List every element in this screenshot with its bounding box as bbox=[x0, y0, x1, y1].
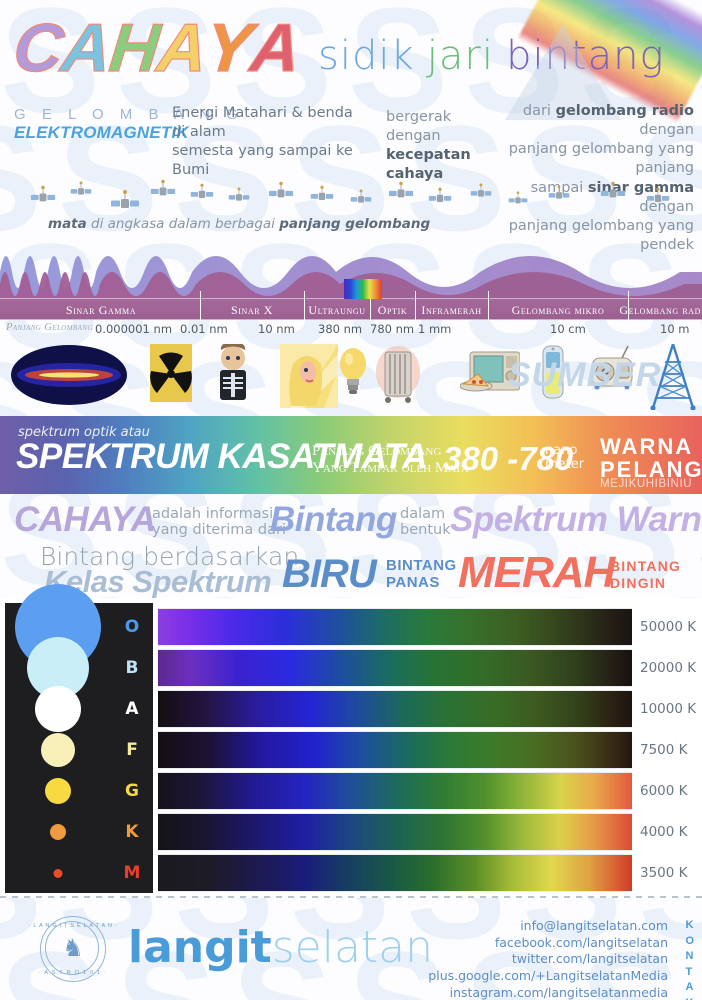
spectrum-strip-F bbox=[158, 731, 632, 769]
visible-spectrum-band: spektrum optik atau SPEKTRUM KASATMATA P… bbox=[0, 416, 702, 494]
header: CAHAYA sidik jari bintang bbox=[0, 0, 702, 100]
satellite-caption-pj: panjang gelombang bbox=[279, 216, 430, 232]
footer-link-0[interactable]: info@langitselatan.com bbox=[428, 918, 668, 935]
temperature-label-A: 10000 K bbox=[640, 701, 696, 717]
statement-block: CAHAYA adalah informasi yang diterima da… bbox=[0, 494, 702, 598]
temperature-label-K: 4000 K bbox=[640, 824, 688, 840]
wavelength-value-1: 0.01 nm bbox=[180, 322, 228, 336]
satellite-caption-mata: mata bbox=[48, 216, 87, 232]
em-band-gelombang-radio: Gelombang radio bbox=[628, 299, 702, 321]
satellite-icon bbox=[508, 190, 528, 215]
spectral-class-letter-K: K bbox=[125, 822, 138, 842]
footer: · L A N G I T S E L A T A N · ♞ · A S T … bbox=[0, 898, 702, 993]
intro-energi-line1: Energi Matahari & benda di alam bbox=[172, 104, 368, 142]
satellite-icon bbox=[310, 184, 334, 213]
spectrum-strip-O bbox=[158, 608, 632, 646]
em-spectrum-bar: Sinar GammaSinar XUltraunguOptikInframer… bbox=[0, 298, 702, 320]
wavelength-value-5: 1 mm bbox=[418, 322, 451, 336]
em-band-inframerah: Inframerah bbox=[415, 299, 488, 321]
em-band-sinar-gamma: Sinar Gamma bbox=[2, 299, 200, 321]
stmt-adalah-line2: yang diterima dari bbox=[152, 523, 286, 539]
seal-text-bottom: · A S T R O 1 0 1 · bbox=[39, 970, 107, 976]
sumber-watermark: SUMBER bbox=[508, 356, 661, 395]
satellite-icon bbox=[548, 184, 570, 211]
spectrum-strip-B bbox=[158, 649, 632, 687]
spectral-class-letter-M: M bbox=[124, 863, 141, 883]
em-divider-3 bbox=[415, 291, 416, 321]
wavelength-axis-label: Panjang Gelombang bbox=[6, 322, 93, 333]
stellar-spectra-chart: O50000 KB20000 KA10000 KF7500 KG6000 KK4… bbox=[0, 598, 702, 898]
temperature-label-G: 6000 K bbox=[640, 783, 688, 799]
temperature-label-F: 7500 K bbox=[640, 742, 688, 758]
poster-root: SSSSSSSSSSSSSSSSSSSSSSSSSSSSSSSSSSSSSSSS… bbox=[0, 0, 702, 1000]
spectral-class-letter-B: B bbox=[126, 658, 139, 678]
satellite-icon bbox=[388, 180, 414, 211]
spectrum-strip-G bbox=[158, 772, 632, 810]
title-letter-0: C bbox=[10, 14, 65, 82]
kontak-letter-1: O bbox=[685, 934, 694, 950]
temperature-label-B: 20000 K bbox=[640, 660, 696, 676]
wavelength-value-0: 0.000001 nm bbox=[95, 322, 172, 336]
star-disc-A bbox=[35, 686, 81, 732]
subtitle-word-1: jari bbox=[427, 33, 494, 79]
heater-icon bbox=[375, 344, 421, 411]
satellite-icon bbox=[30, 184, 56, 215]
seal-text-top: · L A N G I T S E L A T A N · bbox=[29, 923, 118, 929]
em-band-gelombang-mikro: Gelombang mikro bbox=[488, 299, 628, 321]
em-divider-4 bbox=[488, 291, 489, 321]
stmt-bintang: Bintang bbox=[270, 500, 397, 540]
visible-warna-line1: WARNA bbox=[600, 436, 702, 459]
satellite-icon bbox=[228, 186, 250, 213]
intro-dari-text: dari bbox=[523, 103, 556, 119]
spectrum-strip-A bbox=[158, 690, 632, 728]
brand-selatan: selatan bbox=[272, 922, 433, 973]
kontak-vertical-label: KONTAK bbox=[685, 918, 694, 1000]
footer-link-3[interactable]: plus.google.com/+LangitselatanMedia bbox=[428, 968, 668, 985]
intro-text-row: G E L O M B A N G ELEKTROMAGNETIK Energi… bbox=[0, 100, 702, 178]
em-divider-0 bbox=[200, 291, 201, 321]
kontak-letter-0: K bbox=[685, 918, 694, 934]
em-band-sinar-x: Sinar X bbox=[200, 299, 304, 321]
star-disc-M bbox=[54, 869, 63, 878]
stmt-dalam-bentuk: dalam bentuk bbox=[400, 507, 451, 539]
kontak-letter-3: T bbox=[685, 965, 694, 981]
brand-name[interactable]: langitselatan bbox=[128, 926, 433, 970]
visible-unit: nano meter bbox=[545, 444, 584, 472]
galaxy-map-icon bbox=[10, 344, 128, 411]
stmt-biru: BIRU bbox=[282, 552, 376, 597]
intro-kecepatan-line1: bergerak dengan bbox=[386, 108, 504, 146]
satellite-icon bbox=[70, 180, 92, 207]
satellite-icon bbox=[150, 178, 176, 209]
satellite-icon bbox=[600, 180, 626, 211]
visible-warna-pelangi: WARNA PELANGI bbox=[600, 436, 702, 482]
intro-energi-line2: semesta yang sampai ke Bumi bbox=[172, 142, 368, 180]
source-icon-row: SUMBER bbox=[0, 340, 702, 412]
kontak-letter-5: K bbox=[685, 996, 694, 1000]
star-disc-K bbox=[50, 824, 66, 840]
title-letter-1: A bbox=[59, 14, 114, 82]
satellite-icon bbox=[428, 186, 452, 215]
footer-link-2[interactable]: twitter.com/langitselatan bbox=[428, 951, 668, 968]
temperature-label-M: 3500 K bbox=[640, 865, 688, 881]
page-title: CAHAYA bbox=[14, 14, 299, 82]
visible-mnemonic: MEJIKUHIBINIU bbox=[600, 478, 692, 490]
optik-rainbow-swatch-icon bbox=[344, 279, 382, 299]
em-band-ultraungu: Ultraungu bbox=[304, 299, 370, 321]
satellite-icon bbox=[190, 182, 214, 211]
visible-unit-line1: nano bbox=[545, 444, 584, 458]
intro-dengan-text: dengan bbox=[639, 122, 694, 138]
title-letter-3: A bbox=[155, 14, 210, 82]
spectral-class-letter-A: A bbox=[125, 699, 138, 719]
spectral-class-letter-F: F bbox=[126, 740, 138, 760]
subtitle-word-0: sidik bbox=[318, 33, 415, 79]
stmt-biru-label-line1: BINTANG bbox=[386, 558, 457, 575]
stmt-merah-label-line2: DINGIN bbox=[610, 575, 681, 592]
wavelength-value-7: 10 m bbox=[660, 322, 690, 336]
xray-body-icon bbox=[210, 344, 256, 411]
satellite-band: mata di angkasa dalam berbagai panjang g… bbox=[0, 178, 702, 240]
stmt-merah-label-line1: BINTANG bbox=[610, 558, 681, 575]
em-divider-5 bbox=[628, 291, 629, 321]
satellite-icon bbox=[470, 182, 492, 209]
stmt-biru-label-line2: PANAS bbox=[386, 575, 457, 592]
wavelength-value-2: 10 nm bbox=[258, 322, 295, 336]
stmt-adalah-line1: adalah informasi bbox=[152, 507, 286, 523]
satellite-icon bbox=[268, 180, 294, 211]
intro-col-kecepatan: bergerak dengan kecepatan cahaya bbox=[386, 108, 504, 185]
uv-sunbathing-icon bbox=[280, 344, 338, 413]
wavelength-value-3: 380 nm bbox=[318, 322, 362, 336]
em-divider-1 bbox=[304, 291, 305, 321]
kontak-letter-4: A bbox=[685, 980, 694, 996]
wavelength-value-4: 780 nm bbox=[370, 322, 414, 336]
intro-radio-line2: panjang gelombang yang panjang bbox=[508, 140, 694, 178]
kontak-letter-2: N bbox=[685, 949, 694, 965]
spectral-class-letter-G: G bbox=[125, 781, 139, 801]
satellite-icon bbox=[350, 188, 372, 215]
footer-link-4[interactable]: instagram.com/langitselatanmedia bbox=[428, 985, 668, 1000]
stmt-dalam-line1: dalam bbox=[400, 507, 451, 523]
stmt-merah: MERAH bbox=[458, 548, 614, 598]
em-band-optik: Optik bbox=[370, 299, 415, 321]
star-disc-G bbox=[45, 778, 71, 804]
visible-unit-line2: meter bbox=[545, 458, 584, 472]
temperature-label-O: 50000 K bbox=[640, 619, 696, 635]
wavelength-value-6: 10 cm bbox=[550, 322, 586, 336]
stmt-spektrum-warna: Spektrum Warna bbox=[450, 500, 702, 540]
stmt-biru-label: BINTANG PANAS bbox=[386, 558, 457, 592]
seal-horse-glyph-icon: ♞ bbox=[62, 937, 84, 961]
satellite-icon bbox=[646, 186, 670, 215]
stmt-merah-label: BINTANG DINGIN bbox=[610, 558, 681, 591]
satellite-caption: mata di angkasa dalam berbagai panjang g… bbox=[48, 216, 430, 232]
footer-link-1[interactable]: facebook.com/langitselatan bbox=[428, 935, 668, 952]
brand-langit: langit bbox=[128, 922, 272, 973]
radiation-hazard-icon bbox=[150, 344, 192, 407]
satellite-caption-mid: di angkasa dalam berbagai bbox=[87, 216, 279, 232]
langitselatan-seal-icon: · L A N G I T S E L A T A N · ♞ · A S T … bbox=[40, 916, 106, 982]
title-letter-4: Y bbox=[203, 14, 255, 82]
footer-links[interactable]: info@langitselatan.comfacebook.com/langi… bbox=[428, 918, 668, 1000]
stmt-dalam-line2: bentuk bbox=[400, 523, 451, 539]
title-letter-2: H bbox=[107, 14, 162, 82]
stmt-adalah-informasi: adalah informasi yang diterima dari bbox=[152, 507, 286, 539]
star-disc-F bbox=[41, 733, 75, 767]
spectral-class-letter-O: O bbox=[125, 617, 139, 637]
intro-gelombang-radio-text: gelombang radio bbox=[556, 103, 694, 119]
stmt-cahaya: CAHAYA bbox=[14, 500, 156, 540]
title-letter-5: A bbox=[247, 14, 302, 82]
spectrum-strip-K bbox=[158, 813, 632, 851]
light-bulb-icon bbox=[338, 344, 368, 403]
intro-radio-line1: dari gelombang radio dengan bbox=[508, 102, 694, 140]
intro-col-energi: Energi Matahari & benda di alam semesta … bbox=[172, 104, 368, 181]
spectrum-strip-M bbox=[158, 854, 632, 892]
wavelength-row: Panjang Gelombang 0.000001 nm0.01 nm10 n… bbox=[0, 320, 702, 340]
